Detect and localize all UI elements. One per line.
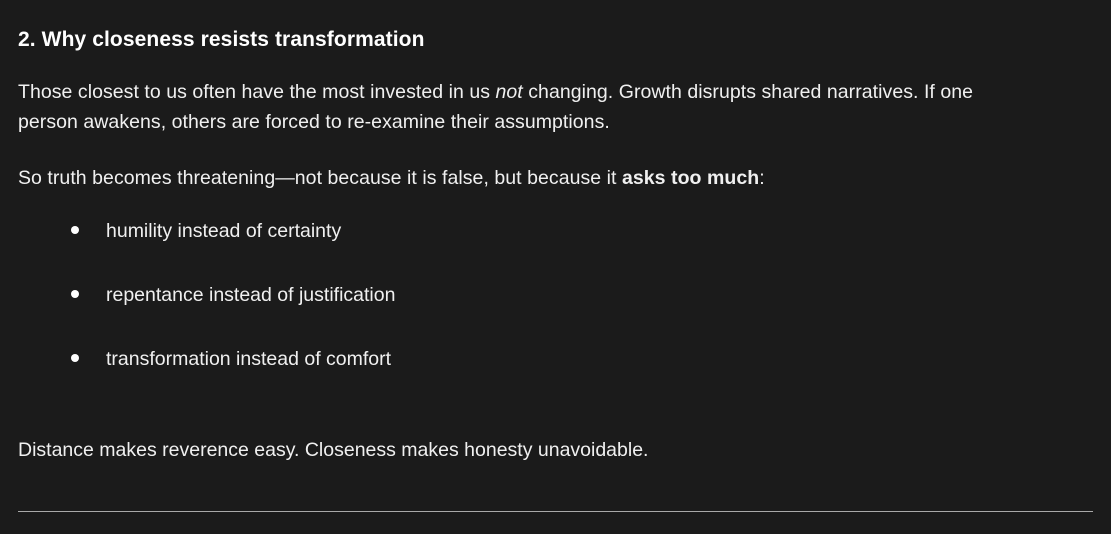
list-item: repentance instead of justification [18,284,1093,348]
section-divider [18,511,1093,512]
list-item: humility instead of certainty [18,220,1093,284]
bullet-point-icon [71,354,79,362]
bullet-point-icon [71,290,79,298]
list-item-label: humility instead of certainty [106,220,341,242]
document-page: 2. Why closeness resists transformation … [0,0,1111,534]
paragraph-two: So truth becomes threatening—not because… [18,137,1003,193]
closing-paragraph: Distance makes reverence easy. Closeness… [18,412,1003,465]
list-item-label: repentance instead of justification [106,284,395,306]
section-heading: 2. Why closeness resists transformation [18,0,1093,53]
paragraph-one-emphasis: not [496,81,523,103]
list-item-label: transformation instead of comfort [106,348,391,370]
paragraph-one: Those closest to us often have the most … [18,53,1003,137]
bullet-list: humility instead of certainty repentance… [18,193,1093,412]
bullet-point-icon [71,226,79,234]
list-item: transformation instead of comfort [18,348,1093,412]
paragraph-one-text-before: Those closest to us often have the most … [18,81,496,103]
paragraph-two-text-after: : [759,167,764,189]
paragraph-two-text-before: So truth becomes threatening—not because… [18,167,622,189]
paragraph-two-strong: asks too much [622,167,759,189]
